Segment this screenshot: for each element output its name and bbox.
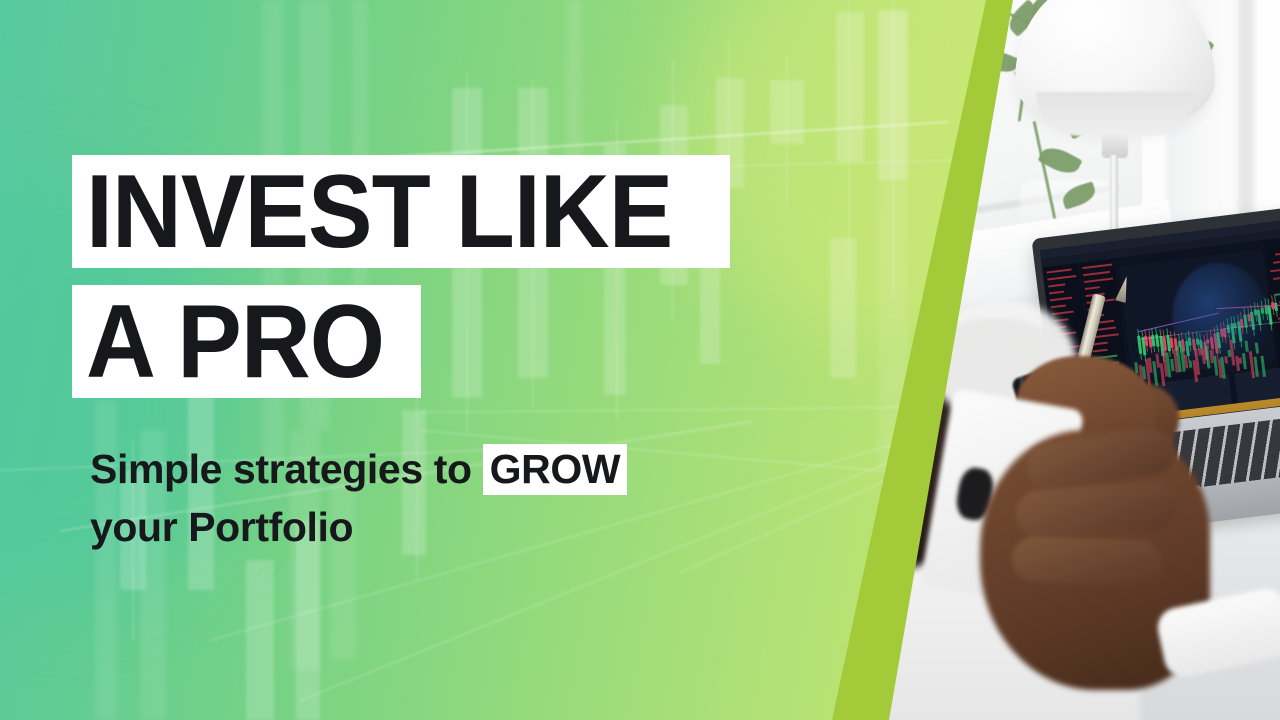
headline-line-1: INVEST LIKE [72, 155, 730, 268]
volume-bar [1224, 356, 1228, 363]
headline-line-2: A PRO [72, 285, 421, 398]
candle-body [836, 12, 864, 162]
candle-body [770, 80, 804, 144]
headline-line-1-text: INVEST LIKE [86, 160, 672, 264]
banner-canvas: INVEST LIKE A PRO Simple strategies to G… [0, 0, 1280, 720]
subtitle-before: Simple strategies to [90, 446, 472, 492]
candle-body [246, 560, 274, 720]
person-finger [1011, 535, 1163, 586]
headline-line-2-text: A PRO [86, 290, 384, 394]
candle-body [830, 238, 856, 378]
candle-body [878, 10, 908, 180]
desk-lamp-joint [1102, 130, 1128, 158]
subtitle: Simple strategies to GROW your Portfolio [90, 440, 790, 556]
subtitle-highlight: GROW [483, 444, 628, 495]
subtitle-after: your Portfolio [90, 504, 353, 550]
